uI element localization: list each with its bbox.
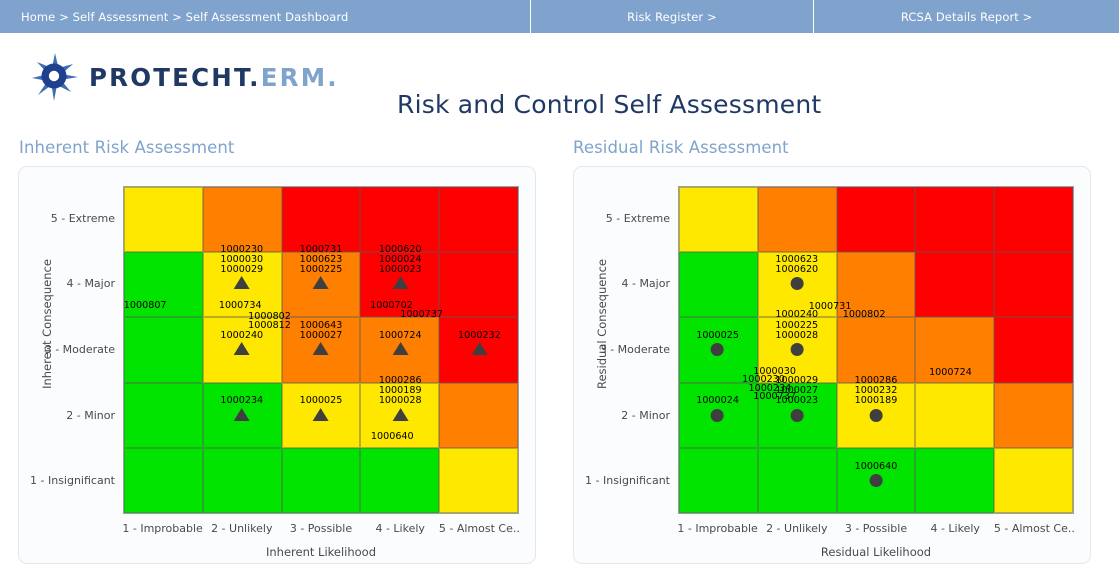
panel-residual-risk-assessment: Residual Consequence1 - Insignificant2 -… bbox=[573, 166, 1091, 564]
risk-marker-circle-icon[interactable] bbox=[790, 343, 803, 356]
risk-data-point[interactable]: 1000025 bbox=[300, 396, 343, 420]
matrix-cell[interactable] bbox=[282, 448, 361, 513]
floating-risk-label[interactable]: 1000640 bbox=[371, 431, 414, 442]
matrix-cell[interactable] bbox=[439, 383, 518, 448]
marker-label: 1000027 bbox=[300, 331, 343, 341]
marker-label: 1000025 bbox=[696, 331, 739, 341]
brand-name: PROTECHT.ERM. bbox=[89, 63, 339, 92]
floating-risk-label[interactable]: 1000734 bbox=[219, 300, 262, 311]
risk-data-point[interactable]: 100028610001891000028 bbox=[379, 376, 422, 421]
risk-data-point[interactable]: 1000724 bbox=[379, 331, 422, 355]
marker-label: 1000028 bbox=[379, 396, 422, 406]
matrix-cell[interactable] bbox=[360, 187, 439, 252]
marker-label-list: 1000025 bbox=[300, 396, 343, 406]
marker-label-list: 10006231000620 bbox=[775, 255, 818, 275]
matrix-cell[interactable] bbox=[679, 187, 758, 252]
marker-label-list: 1000025 bbox=[696, 331, 739, 341]
risk-data-point[interactable]: 1000240 bbox=[220, 331, 263, 355]
x-axis-title-inherent: Inherent Likelihood bbox=[123, 545, 519, 559]
y-axis-tick-residual-5: 5 - Extreme bbox=[574, 212, 670, 225]
matrix-cell[interactable] bbox=[679, 448, 758, 513]
risk-data-point[interactable]: 100024010002251000028 bbox=[775, 310, 818, 356]
x-axis-tick-residual-5: 5 - Almost Ce.. bbox=[975, 522, 1094, 535]
matrix-cell[interactable] bbox=[360, 448, 439, 513]
floating-risk-label[interactable]: 1000737 bbox=[400, 309, 443, 320]
nav-link-risk-register-label: Risk Register > bbox=[627, 10, 717, 24]
risk-marker-circle-icon[interactable] bbox=[869, 409, 882, 422]
marker-label-list: 100028610001891000028 bbox=[379, 376, 422, 407]
matrix-cell[interactable] bbox=[439, 187, 518, 252]
marker-label-list: 1000240 bbox=[220, 331, 263, 341]
marker-label-list: 1000640 bbox=[855, 462, 898, 472]
risk-marker-triangle-icon[interactable] bbox=[471, 342, 487, 355]
brand-logo[interactable]: PROTECHT.ERM. bbox=[30, 51, 339, 103]
floating-risk-label[interactable]: 1000802 bbox=[843, 309, 886, 320]
matrix-cell[interactable] bbox=[915, 383, 994, 448]
marker-label: 1000234 bbox=[220, 396, 263, 406]
matrix-cell[interactable] bbox=[439, 448, 518, 513]
matrix-cell[interactable] bbox=[837, 317, 916, 382]
risk-data-point[interactable]: 10006231000620 bbox=[775, 255, 818, 290]
marker-label: 1000025 bbox=[300, 396, 343, 406]
matrix-cell[interactable] bbox=[124, 317, 203, 382]
marker-label: 1000620 bbox=[775, 265, 818, 275]
risk-data-point[interactable]: 10006431000027 bbox=[300, 321, 343, 355]
risk-marker-triangle-icon[interactable] bbox=[234, 342, 250, 355]
matrix-cell[interactable] bbox=[994, 252, 1073, 317]
matrix-cell[interactable] bbox=[837, 187, 916, 252]
matrix-cell[interactable] bbox=[758, 187, 837, 252]
matrix-cell[interactable] bbox=[994, 448, 1073, 513]
matrix-cell[interactable] bbox=[439, 252, 518, 317]
section-heading-residual: Residual Risk Assessment bbox=[573, 138, 789, 157]
floating-risk-label[interactable]: 1000812 bbox=[248, 320, 291, 331]
y-axis-tick-inherent-4: 4 - Major bbox=[19, 277, 115, 290]
nav-link-rcsa-details-report-label: RCSA Details Report > bbox=[901, 10, 1033, 24]
y-axis-tick-inherent-2: 2 - Minor bbox=[19, 409, 115, 422]
heatmap-inherent-risk[interactable]: Inherent Consequence1 - Insignificant2 -… bbox=[19, 167, 535, 563]
matrix-cell[interactable] bbox=[758, 448, 837, 513]
matrix-cell[interactable] bbox=[124, 383, 203, 448]
risk-data-point[interactable]: 1000232 bbox=[458, 331, 501, 355]
y-axis-tick-residual-3: 3 - Moderate bbox=[574, 343, 670, 356]
marker-label-list: 1000234 bbox=[220, 396, 263, 406]
marker-label: 1000240 bbox=[220, 331, 263, 341]
matrix-cell[interactable] bbox=[124, 448, 203, 513]
floating-risk-label[interactable]: 1000724 bbox=[929, 367, 972, 378]
marker-label-list: 1000232 bbox=[458, 331, 501, 341]
marker-label-list: 10006431000027 bbox=[300, 321, 343, 341]
section-heading-inherent: Inherent Risk Assessment bbox=[19, 138, 235, 157]
y-axis-tick-inherent-1: 1 - Insignificant bbox=[19, 474, 115, 487]
y-axis-tick-residual-2: 2 - Minor bbox=[574, 409, 670, 422]
risk-marker-circle-icon[interactable] bbox=[711, 343, 724, 356]
nav-link-rcsa-details-report[interactable]: RCSA Details Report > bbox=[814, 0, 1119, 33]
marker-label: 1000189 bbox=[855, 396, 898, 406]
y-axis-tick-inherent-3: 3 - Moderate bbox=[19, 343, 115, 356]
breadcrumb[interactable]: Home > Self Assessment > Self Assessment… bbox=[0, 0, 530, 33]
matrix-cell[interactable] bbox=[915, 187, 994, 252]
nav-link-risk-register[interactable]: Risk Register > bbox=[530, 0, 815, 33]
top-navigation-bar: Home > Self Assessment > Self Assessment… bbox=[0, 0, 1119, 33]
risk-marker-triangle-icon[interactable] bbox=[313, 342, 329, 355]
marker-label: 1000023 bbox=[379, 265, 422, 275]
risk-data-point[interactable]: 100028610002321000189 bbox=[855, 376, 898, 422]
marker-label: 1000028 bbox=[775, 331, 818, 341]
y-axis-tick-residual-4: 4 - Major bbox=[574, 277, 670, 290]
marker-label-list: 1000724 bbox=[379, 331, 422, 341]
risk-data-point[interactable]: 1000025 bbox=[696, 331, 739, 356]
y-axis-tick-residual-1: 1 - Insignificant bbox=[574, 474, 670, 487]
risk-data-point[interactable]: 1000234 bbox=[220, 396, 263, 420]
matrix-cell[interactable] bbox=[994, 187, 1073, 252]
protecht-swirl-logo-icon bbox=[30, 51, 80, 103]
marker-label-list: 1000024 bbox=[696, 396, 739, 406]
floating-risk-label[interactable]: 1000807 bbox=[124, 300, 167, 311]
x-axis-tick-inherent-5: 5 - Almost Ce.. bbox=[420, 522, 539, 535]
marker-label-list: 100073110006231000225 bbox=[300, 245, 343, 276]
risk-marker-circle-icon[interactable] bbox=[869, 474, 882, 487]
risk-marker-triangle-icon[interactable] bbox=[313, 276, 329, 289]
risk-marker-triangle-icon[interactable] bbox=[392, 276, 408, 289]
marker-label-list: 100023010000301000029 bbox=[220, 245, 263, 276]
marker-label-list: 100024010002251000028 bbox=[775, 310, 818, 341]
marker-label: 1000029 bbox=[220, 265, 263, 275]
marker-label: 1000640 bbox=[855, 462, 898, 472]
risk-marker-triangle-icon[interactable] bbox=[234, 408, 250, 421]
matrix-cell[interactable] bbox=[994, 383, 1073, 448]
y-axis-tick-inherent-5: 5 - Extreme bbox=[19, 212, 115, 225]
marker-label: 1000225 bbox=[300, 265, 343, 275]
risk-marker-triangle-icon[interactable] bbox=[313, 408, 329, 421]
risk-data-point[interactable]: 100073110006231000225 bbox=[300, 245, 343, 290]
matrix-cell[interactable] bbox=[203, 448, 282, 513]
risk-data-point[interactable]: 100023010000301000029 bbox=[220, 245, 263, 290]
page-header: PROTECHT.ERM. Risk and Control Self Asse… bbox=[0, 33, 1119, 133]
risk-marker-triangle-icon[interactable] bbox=[392, 342, 408, 355]
risk-marker-circle-icon[interactable] bbox=[790, 277, 803, 290]
marker-label: 1000024 bbox=[696, 396, 739, 406]
matrix-cell[interactable] bbox=[203, 187, 282, 252]
matrix-cell[interactable] bbox=[915, 448, 994, 513]
risk-data-point[interactable]: 100062010000241000023 bbox=[379, 245, 422, 290]
marker-label: 1000724 bbox=[379, 331, 422, 341]
risk-marker-triangle-icon[interactable] bbox=[392, 408, 408, 421]
marker-label-list: 100062010000241000023 bbox=[379, 245, 422, 276]
marker-label-list: 100028610002321000189 bbox=[855, 376, 898, 407]
risk-marker-triangle-icon[interactable] bbox=[234, 276, 250, 289]
brand-name-primary: PROTECHT. bbox=[89, 63, 261, 92]
risk-data-point[interactable]: 1000640 bbox=[855, 462, 898, 487]
matrix-cell[interactable] bbox=[915, 252, 994, 317]
floating-risk-label[interactable]: 1000737 bbox=[753, 391, 796, 402]
brand-name-product: ERM. bbox=[261, 63, 339, 92]
marker-label: 1000232 bbox=[458, 331, 501, 341]
x-axis-title-residual: Residual Likelihood bbox=[678, 545, 1074, 559]
heatmap-residual-risk[interactable]: Residual Consequence1 - Insignificant2 -… bbox=[574, 167, 1090, 563]
matrix-cell[interactable] bbox=[282, 187, 361, 252]
matrix-cell[interactable] bbox=[994, 317, 1073, 382]
page-title: Risk and Control Self Assessment bbox=[397, 90, 821, 119]
breadcrumb-text: Home > Self Assessment > Self Assessment… bbox=[21, 10, 348, 24]
risk-data-point[interactable]: 1000024 bbox=[696, 396, 739, 421]
risk-marker-circle-icon[interactable] bbox=[711, 409, 724, 422]
matrix-cell[interactable] bbox=[124, 187, 203, 252]
panel-inherent-risk-assessment: Inherent Consequence1 - Insignificant2 -… bbox=[18, 166, 536, 564]
matrix-cell[interactable] bbox=[679, 252, 758, 317]
risk-marker-circle-icon[interactable] bbox=[790, 409, 803, 422]
